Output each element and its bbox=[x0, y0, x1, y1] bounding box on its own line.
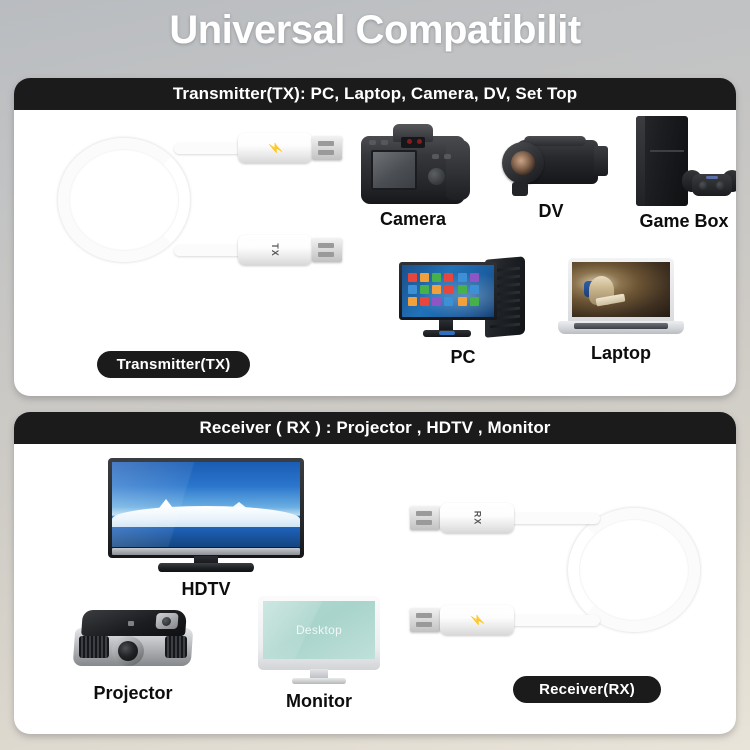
pc-label: PC bbox=[395, 347, 531, 368]
receiver-panel-body: HDTV Projector Desktop bbox=[14, 444, 736, 734]
device-game-box: Game Box bbox=[622, 116, 736, 232]
receiver-pill-label: Receiver(RX) bbox=[513, 676, 661, 703]
receiver-pill-text: Receiver(RX) bbox=[539, 681, 635, 698]
device-hdtv: HDTV bbox=[108, 458, 304, 600]
usb-plug-icon bbox=[312, 238, 342, 262]
device-camera: Camera bbox=[346, 124, 480, 230]
usb-plug-icon bbox=[312, 136, 342, 160]
monitor-screen-text: Desktop bbox=[296, 623, 342, 637]
lightning-bolt-icon: ⚡ bbox=[268, 141, 282, 156]
cable-stub-top bbox=[500, 513, 600, 524]
connector-housing-bottom: ⚡ bbox=[440, 605, 514, 635]
cable-stub-bottom bbox=[500, 615, 600, 626]
transmitter-connector-top: ⚡ bbox=[238, 133, 342, 163]
receiver-panel: Receiver ( RX ) : Projector , HDTV , Mon… bbox=[14, 412, 736, 734]
dv-label: DV bbox=[498, 201, 604, 222]
receiver-cable: RX ⚡ bbox=[410, 502, 710, 672]
usb-plug-icon bbox=[410, 608, 440, 632]
usb-plug-icon bbox=[410, 506, 440, 530]
transmitter-panel-header: Transmitter(TX): PC, Laptop, Camera, DV,… bbox=[14, 78, 736, 110]
pc-illustration bbox=[399, 256, 527, 344]
transmitter-connector-bottom: TX bbox=[238, 235, 342, 265]
device-dv: DV bbox=[498, 132, 604, 222]
transmitter-cable: ⚡ TX bbox=[48, 132, 338, 302]
connector-housing-top: ⚡ bbox=[238, 133, 312, 163]
dv-illustration bbox=[498, 132, 604, 198]
tx-marking-label: TX bbox=[270, 243, 280, 257]
gamepad-icon bbox=[682, 168, 736, 202]
transmitter-header-text: Transmitter(TX): PC, Laptop, Camera, DV,… bbox=[173, 84, 577, 104]
receiver-panel-header: Receiver ( RX ) : Projector , HDTV , Mon… bbox=[14, 412, 736, 444]
laptop-label: Laptop bbox=[548, 343, 694, 364]
cable-loop bbox=[58, 138, 190, 262]
page-title: Universal Compatibilit bbox=[0, 8, 750, 53]
camera-illustration bbox=[357, 124, 469, 206]
transmitter-pill-label: Transmitter(TX) bbox=[97, 351, 250, 378]
receiver-header-text: Receiver ( RX ) : Projector , HDTV , Mon… bbox=[199, 418, 550, 438]
monitor-illustration: Desktop bbox=[258, 596, 380, 688]
projector-illustration bbox=[70, 602, 196, 680]
receiver-connector-bottom: ⚡ bbox=[410, 605, 514, 635]
device-pc: PC bbox=[395, 256, 531, 368]
rx-marking-label: RX bbox=[472, 511, 482, 526]
cable-loop bbox=[568, 508, 700, 632]
receiver-connector-top: RX bbox=[410, 503, 514, 533]
projector-label: Projector bbox=[62, 683, 204, 704]
connector-housing-bottom: TX bbox=[238, 235, 312, 265]
transmitter-pill-text: Transmitter(TX) bbox=[117, 356, 231, 373]
game-box-illustration bbox=[626, 116, 736, 208]
device-monitor: Desktop Monitor bbox=[246, 596, 392, 712]
hdtv-illustration bbox=[108, 458, 304, 576]
monitor-label: Monitor bbox=[246, 691, 392, 712]
transmitter-panel-body: ⚡ TX Transmitter(TX) bbox=[14, 110, 736, 396]
connector-housing-top: RX bbox=[440, 503, 514, 533]
device-laptop: Laptop bbox=[548, 258, 694, 364]
lightning-bolt-icon: ⚡ bbox=[470, 613, 484, 628]
transmitter-panel: Transmitter(TX): PC, Laptop, Camera, DV,… bbox=[14, 78, 736, 396]
game-box-label: Game Box bbox=[622, 211, 736, 232]
device-projector: Projector bbox=[62, 602, 204, 704]
camera-label: Camera bbox=[346, 209, 480, 230]
laptop-illustration bbox=[558, 258, 684, 340]
